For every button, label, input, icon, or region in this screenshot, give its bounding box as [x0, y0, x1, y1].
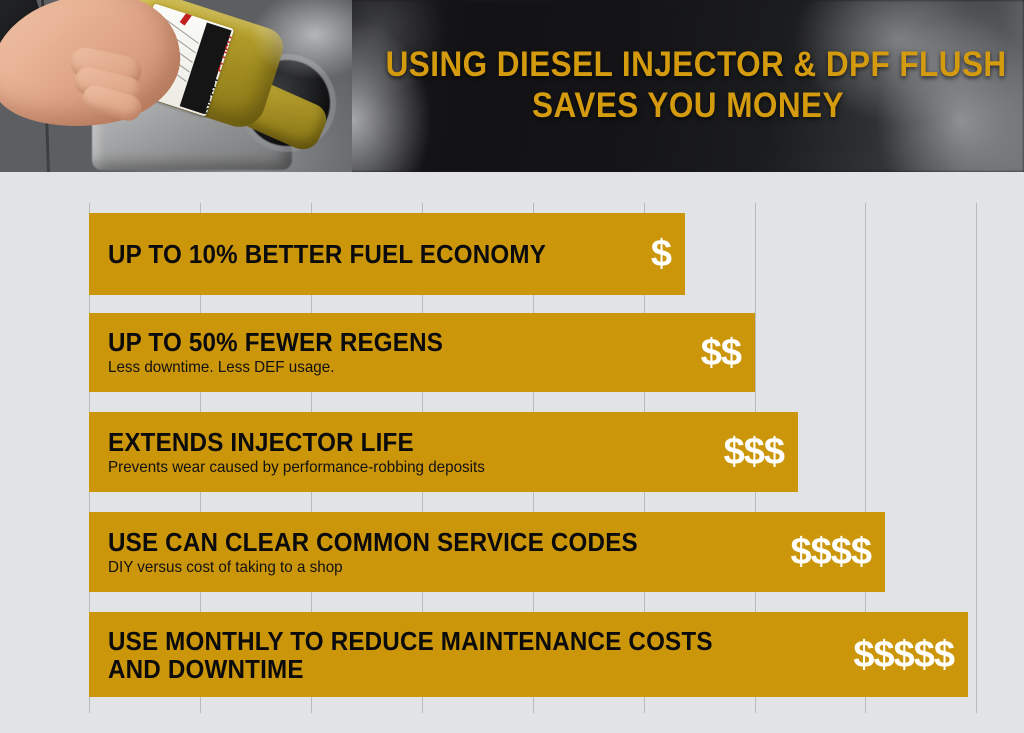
- header-banner: DIESEL FLUSH USING DIESEL INJECTOR & DPF…: [0, 0, 1024, 172]
- bar-row: USE MONTHLY TO REDUCE MAINTENANCE COSTSA…: [89, 612, 968, 697]
- infographic-root: DIESEL FLUSH USING DIESEL INJECTOR & DPF…: [0, 0, 1024, 733]
- bar-headline: USE MONTHLY TO REDUCE MAINTENANCE COSTSA…: [108, 627, 713, 683]
- bar-text-block: EXTENDS INJECTOR LIFEPrevents wear cause…: [108, 428, 505, 477]
- bar-value-dollar-signs: $$$: [724, 433, 784, 471]
- bar-headline: UP TO 10% BETTER FUEL ECONOMY: [108, 240, 546, 268]
- bar-value-dollar-signs: $$: [701, 334, 741, 372]
- chart-bars: UP TO 10% BETTER FUEL ECONOMY$UP TO 50% …: [0, 172, 1024, 733]
- page-title: USING DIESEL INJECTOR & DPF FLUSH SAVES …: [386, 44, 991, 126]
- bar-value-dollar-signs: $$$$: [790, 533, 871, 571]
- bar-headline-line-2: AND DOWNTIME: [108, 655, 713, 683]
- bar-headline-line-1: USE CAN CLEAR COMMON SERVICE CODES: [108, 527, 638, 557]
- bar-headline-line-1: UP TO 50% FEWER REGENS: [108, 327, 443, 357]
- bar-subtitle: Prevents wear caused by performance-robb…: [108, 458, 485, 477]
- bar-row: UP TO 10% BETTER FUEL ECONOMY$: [89, 213, 685, 295]
- bar-subtitle: Less downtime. Less DEF usage.: [108, 358, 450, 377]
- bar-value-dollar-signs: $: [651, 235, 671, 273]
- bar-headline-line-1: EXTENDS INJECTOR LIFE: [108, 427, 414, 457]
- bar-text-block: USE MONTHLY TO REDUCE MAINTENANCE COSTSA…: [108, 627, 758, 683]
- bar-row: EXTENDS INJECTOR LIFEPrevents wear cause…: [89, 412, 798, 492]
- bar-headline-line-1: UP TO 10% BETTER FUEL ECONOMY: [108, 239, 546, 269]
- bar-headline: USE CAN CLEAR COMMON SERVICE CODES: [108, 528, 638, 556]
- page-title-line-1: USING DIESEL INJECTOR & DPF FLUSH: [386, 44, 991, 85]
- bar-headline-line-1: USE MONTHLY TO REDUCE MAINTENANCE COSTS: [108, 626, 713, 656]
- page-title-line-2: SAVES YOU MONEY: [386, 85, 991, 126]
- bar-headline: EXTENDS INJECTOR LIFE: [108, 428, 477, 456]
- photo-edge-fade: [330, 0, 370, 172]
- bar-value-dollar-signs: $$$$$: [853, 636, 954, 674]
- bar-subtitle: DIY versus cost of taking to a shop: [108, 558, 649, 577]
- bar-headline: UP TO 50% FEWER REGENS: [108, 328, 443, 356]
- bar-row: USE CAN CLEAR COMMON SERVICE CODESDIY ve…: [89, 512, 885, 592]
- bar-text-block: UP TO 10% BETTER FUEL ECONOMY: [108, 240, 579, 268]
- bar-text-block: UP TO 50% FEWER REGENSLess downtime. Les…: [108, 328, 468, 377]
- bar-chart: UP TO 10% BETTER FUEL ECONOMY$UP TO 50% …: [0, 172, 1024, 733]
- bar-row: UP TO 50% FEWER REGENSLess downtime. Les…: [89, 313, 755, 392]
- product-photo: DIESEL FLUSH: [0, 0, 352, 172]
- bar-text-block: USE CAN CLEAR COMMON SERVICE CODESDIY ve…: [108, 528, 678, 577]
